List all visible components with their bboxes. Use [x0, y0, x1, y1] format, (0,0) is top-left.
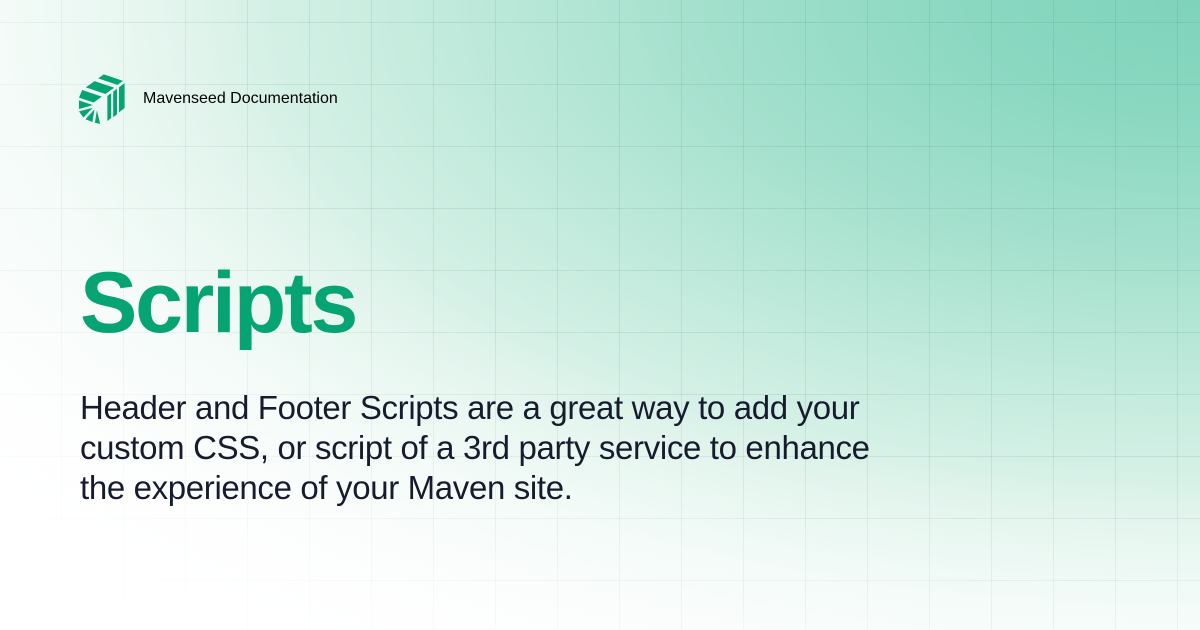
mavenseed-cube-logo-icon — [78, 74, 126, 124]
brand-name: Mavenseed Documentation — [143, 90, 338, 108]
card-content: Mavenseed Documentation Scripts Header a… — [0, 0, 1200, 630]
page-title: Scripts — [80, 260, 356, 346]
brand-header: Mavenseed Documentation — [78, 74, 338, 124]
og-banner-card: Mavenseed Documentation Scripts Header a… — [0, 0, 1200, 630]
page-description: Header and Footer Scripts are a great wa… — [80, 388, 890, 508]
